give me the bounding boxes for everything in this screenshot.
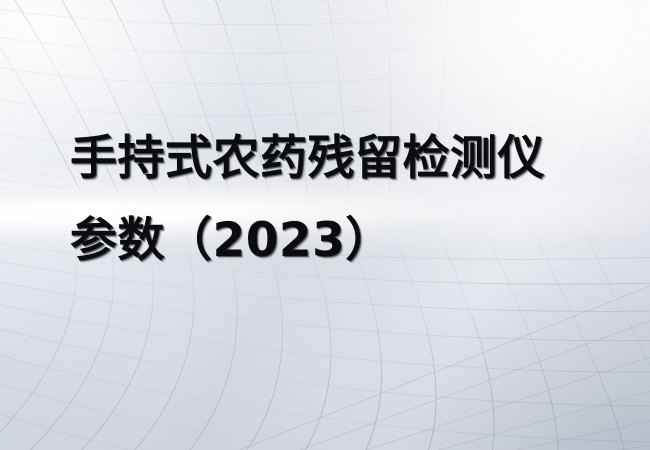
- page-title: 手持式农药残留检测仪 参数（2023）: [70, 118, 630, 282]
- title-line-1: 手持式农药残留检测仪: [70, 118, 630, 200]
- title-line-2: 参数（2023）: [70, 200, 630, 282]
- title-banner: 手持式农药残留检测仪 参数（2023）: [0, 0, 650, 450]
